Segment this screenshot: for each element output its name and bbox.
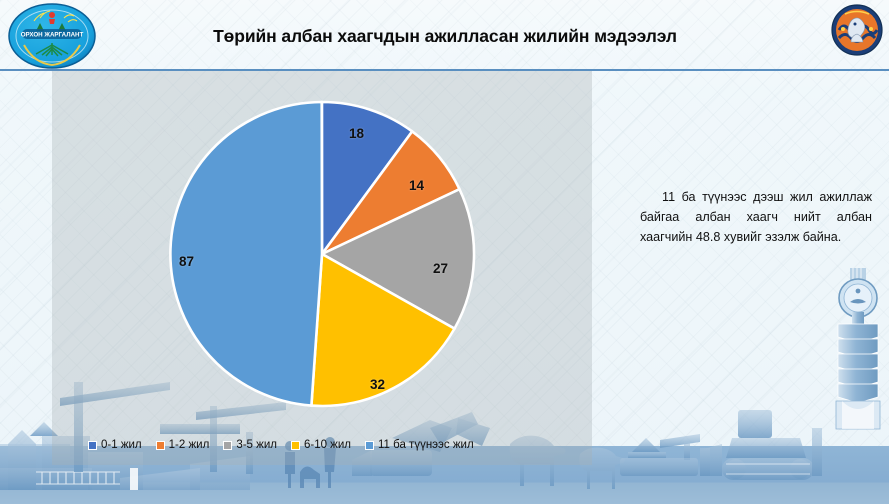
legend-label: 11 ба түүнээс жил bbox=[378, 439, 474, 451]
legend-label: 6-10 жил bbox=[304, 439, 351, 451]
tower-monument-graphic bbox=[826, 268, 888, 432]
pie-label-6-10: 32 bbox=[370, 377, 385, 392]
logo-text: ОРХОН ЖАРГАЛАНТ bbox=[21, 32, 84, 39]
header-divider bbox=[0, 69, 889, 71]
slide: 18 14 27 32 87 0-1 жил 1-2 жил 3-5 жил 6… bbox=[0, 0, 889, 504]
legend-swatch-icon bbox=[223, 441, 232, 450]
pie-label-11-plus: 87 bbox=[179, 254, 194, 269]
pie-chart-svg[interactable] bbox=[168, 100, 476, 408]
legend-label: 3-5 жил bbox=[236, 439, 277, 451]
pie-chart[interactable]: 18 14 27 32 87 bbox=[168, 100, 476, 408]
legend-item-3-5[interactable]: 3-5 жил bbox=[223, 439, 277, 451]
summary-note: 11 ба түүнээс дээш жил ажиллаж байгаа ал… bbox=[640, 188, 872, 248]
legend-item-11-plus[interactable]: 11 ба түүнээс жил bbox=[365, 439, 474, 451]
pie-label-0-1: 18 bbox=[349, 126, 364, 141]
page-title: Төрийн албан хаагчдын ажилласан жилийн м… bbox=[120, 26, 770, 47]
legend-label: 0-1 жил bbox=[101, 439, 142, 451]
chart-legend[interactable]: 0-1 жил 1-2 жил 3-5 жил 6-10 жил 11 ба т… bbox=[88, 439, 474, 451]
legend-item-6-10[interactable]: 6-10 жил bbox=[291, 439, 351, 451]
legend-swatch-icon bbox=[156, 441, 165, 450]
state-emblem-icon bbox=[831, 4, 883, 56]
legend-swatch-icon bbox=[88, 441, 97, 450]
legend-label: 1-2 жил bbox=[169, 439, 210, 451]
legend-swatch-icon bbox=[365, 441, 374, 450]
pie-label-3-5: 27 bbox=[433, 261, 448, 276]
legend-item-1-2[interactable]: 1-2 жил bbox=[156, 439, 210, 451]
orkhon-jargalant-emblem-icon: ОРХОН ЖАРГАЛАНТ bbox=[6, 3, 98, 69]
legend-item-0-1[interactable]: 0-1 жил bbox=[88, 439, 142, 451]
legend-swatch-icon bbox=[291, 441, 300, 450]
pie-label-1-2: 14 bbox=[409, 178, 424, 193]
